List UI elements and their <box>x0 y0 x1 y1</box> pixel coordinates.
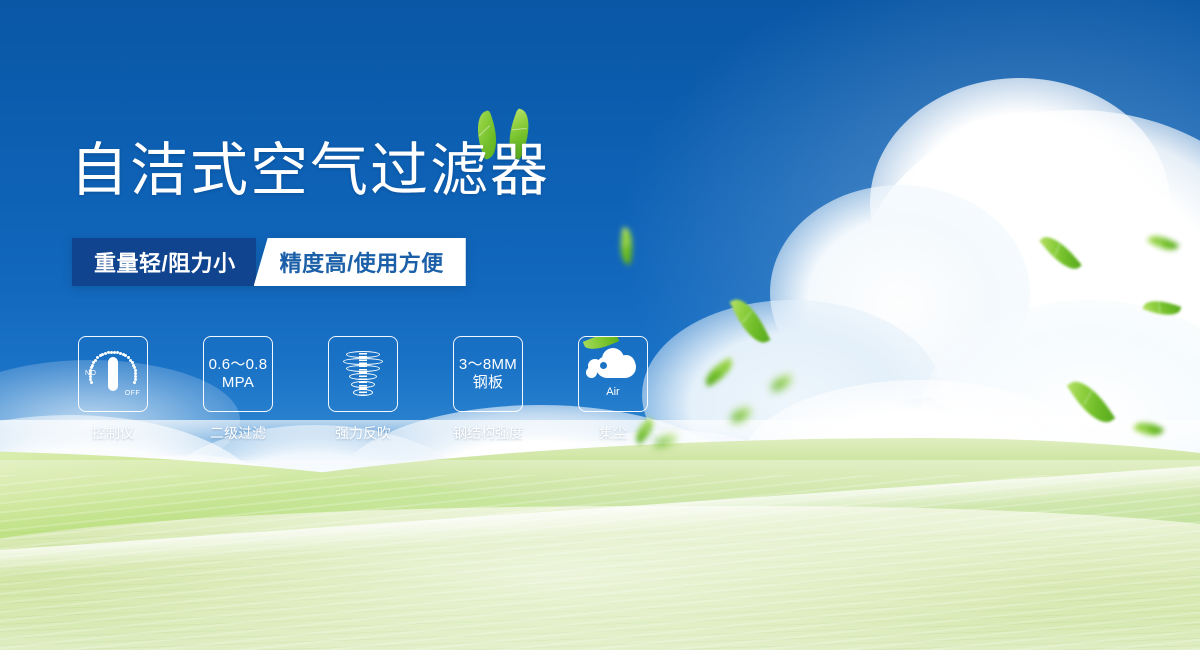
gauge-dot <box>90 381 93 384</box>
feature-label: 二级过滤 <box>210 423 266 443</box>
gauge-dot <box>133 381 136 384</box>
steel-line-2: 钢板 <box>459 374 517 392</box>
pressure-value-icon: 0.6～0.8 MPA <box>209 356 268 391</box>
spiral-ring <box>346 351 380 358</box>
gauge-icon: NO OFF <box>86 348 140 400</box>
feature-item-two-stage-filter[interactable]: 0.6～0.8 MPA 二级过滤 <box>203 336 273 443</box>
feature-icon-box <box>328 336 398 412</box>
subtitle-bar: 重量轻/阻力小 精度高/使用方便 <box>72 238 466 286</box>
feature-item-dust-collection[interactable]: Air 集尘 <box>578 336 648 443</box>
spiral-ring <box>351 381 375 388</box>
steel-line-1: 3～8MM <box>459 356 517 374</box>
feature-item-steel-strength[interactable]: 3～8MM 钢板 钢结构强度 <box>453 336 523 443</box>
gauge-label-off: OFF <box>125 390 140 397</box>
feature-icon-box: Air <box>578 336 648 412</box>
feature-label: 钢结构强度 <box>453 423 523 443</box>
air-label: Air <box>586 386 640 398</box>
feature-label: 控制仪 <box>92 423 134 443</box>
spiral-coil-icon <box>340 349 386 399</box>
feature-icon-box: NO OFF <box>78 336 148 412</box>
subtitle-left: 重量轻/阻力小 <box>72 238 256 286</box>
grass-field <box>0 420 1200 650</box>
spiral-ring <box>343 358 383 365</box>
spiral-ring <box>346 365 380 372</box>
subtitle-right: 精度高/使用方便 <box>254 238 466 286</box>
feature-label: 强力反吹 <box>335 423 391 443</box>
feature-label: 集尘 <box>599 423 627 443</box>
gauge-dot <box>91 364 94 367</box>
pressure-line-2: MPA <box>209 374 268 392</box>
feature-list: NO OFF 控制仪 0.6～0.8 MPA 二级过滤 <box>78 336 648 443</box>
spiral-ring <box>353 389 373 396</box>
feature-icon-box: 3～8MM 钢板 <box>453 336 523 412</box>
pressure-line-1: 0.6～0.8 <box>209 356 268 374</box>
grass-sunlight-sheen <box>0 460 1200 650</box>
page-title: 自洁式空气过滤器 <box>70 142 550 200</box>
gauge-label-no: NO <box>85 370 96 377</box>
steel-plate-value-icon: 3～8MM 钢板 <box>459 356 517 391</box>
cloud-notch <box>600 362 607 369</box>
gauge-needle <box>108 357 118 391</box>
air-cloud-icon: Air <box>586 344 640 384</box>
feature-item-strong-backblow[interactable]: 强力反吹 <box>328 336 398 443</box>
product-banner: 自洁式空气过滤器 重量轻/阻力小 精度高/使用方便 NO OFF 控制仪 0.6… <box>0 0 1200 650</box>
spiral-ring <box>349 373 377 380</box>
feature-icon-box: 0.6～0.8 MPA <box>203 336 273 412</box>
feature-item-controller[interactable]: NO OFF 控制仪 <box>78 336 148 443</box>
